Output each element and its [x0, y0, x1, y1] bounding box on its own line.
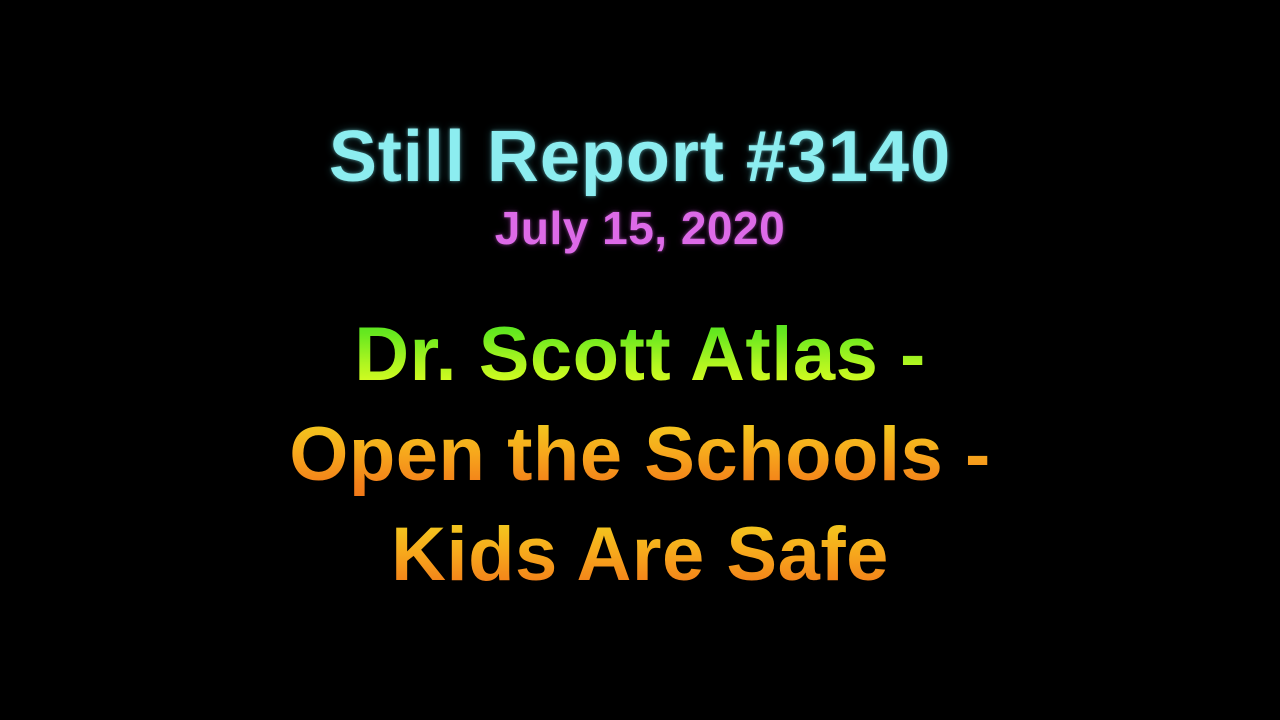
header-block: Still Report #3140 July 15, 2020: [0, 118, 1280, 254]
video-title-slide: Still Report #3140 July 15, 2020 Dr. Sco…: [0, 0, 1280, 720]
headline-line-1: Dr. Scott Atlas - Dr. Scott Atlas -: [0, 305, 1280, 405]
report-date: July 15, 2020: [0, 202, 1280, 254]
headline-line-2-text: Open the Schools -: [289, 405, 991, 505]
headline-line-3-text: Kids Are Safe: [391, 505, 889, 605]
headline-block: Dr. Scott Atlas - Dr. Scott Atlas - Open…: [0, 305, 1280, 605]
headline-line-1-text: Dr. Scott Atlas -: [354, 305, 926, 405]
headline-line-2: Open the Schools - Open the Schools -: [0, 405, 1280, 505]
report-title: Still Report #3140: [0, 118, 1280, 196]
headline-line-3: Kids Are Safe Kids Are Safe: [0, 505, 1280, 605]
